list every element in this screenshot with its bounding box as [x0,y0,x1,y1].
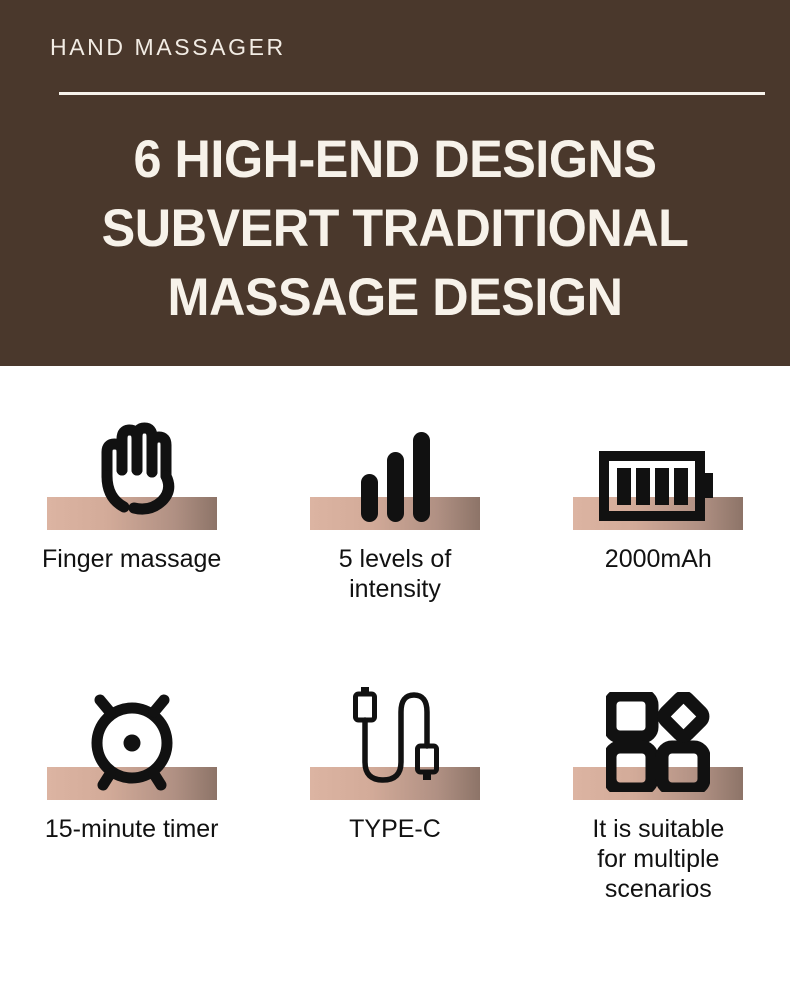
feature-item-battery-capacity: 2000mAh [527,394,790,604]
headline-line-1: 6 HIGH-END DESIGNS [20,125,771,194]
header-banner: HAND MASSAGER 6 HIGH-END DESIGNS SUBVERT… [0,0,790,366]
feature-label: 5 levels of intensity [339,544,452,604]
feature-item-intensity-levels: 5 levels of intensity [263,394,526,604]
feature-label-line-2: intensity [349,575,441,603]
usb-cable-icon [350,684,440,800]
feature-grid: Finger massage 5 levels of [0,366,790,1005]
product-category-label: HAND MASSAGER [50,34,286,61]
headline-line-2: SUBVERT TRADITIONAL [20,194,771,263]
feature-label: It is suitable for multiple scenarios [592,814,724,904]
feature-label-line-3: scenarios [605,875,712,903]
shapes-grid-icon [606,692,710,792]
feature-label: 15-minute timer [45,814,219,844]
icon-holder [17,688,247,792]
page-title: 6 HIGH-END DESIGNS SUBVERT TRADITIONAL M… [20,125,771,332]
icon-stage [280,664,510,800]
icon-holder [543,692,773,792]
alarm-clock-icon [80,688,184,792]
feature-label: TYPE-C [349,814,441,844]
product-feature-page: HAND MASSAGER 6 HIGH-END DESIGNS SUBVERT… [0,0,790,1005]
feature-label: 2000mAh [605,544,712,574]
icon-holder [543,450,773,522]
feature-label-line-2: for multiple [597,845,719,873]
feature-label-line-1: 5 levels of [339,545,452,573]
feature-row-1: Finger massage 5 levels of [0,394,790,604]
icon-holder [280,684,510,800]
battery-icon [599,450,717,522]
signal-bars-icon [349,426,441,522]
icon-stage [17,394,247,530]
feature-item-timer: 15-minute timer [0,664,263,904]
feature-label: Finger massage [42,544,221,574]
icon-stage [280,394,510,530]
feature-item-multiple-scenarios: It is suitable for multiple scenarios [527,664,790,904]
header-divider [59,92,765,95]
feature-item-finger-massage: Finger massage [0,394,263,604]
icon-stage [543,664,773,800]
feature-row-2: 15-minute timer [0,664,790,904]
icon-stage [17,664,247,800]
feature-item-usb-type-c: TYPE-C [263,664,526,904]
icon-holder [17,414,247,522]
feature-label-line-1: It is suitable [592,815,724,843]
icon-stage [543,394,773,530]
icon-holder [280,426,510,522]
headline-line-3: MASSAGE DESIGN [20,263,771,332]
hand-icon [76,414,188,522]
